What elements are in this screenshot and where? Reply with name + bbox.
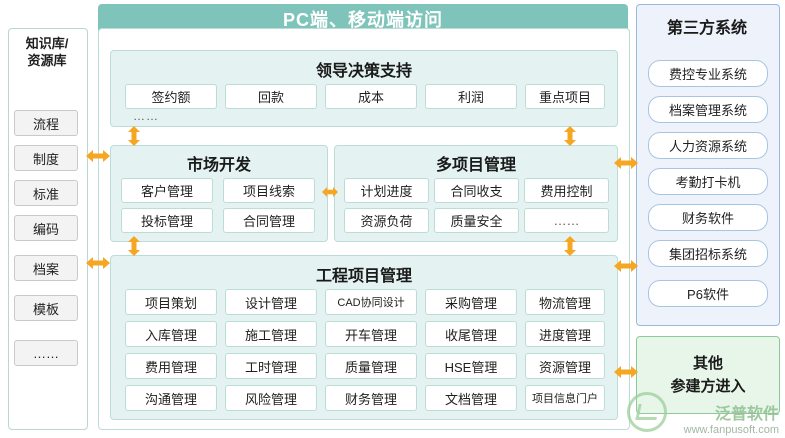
cell-label: 质量管理: [345, 357, 397, 376]
left-item-1[interactable]: 制度: [14, 145, 78, 171]
eng-cell-2[interactable]: CAD协同设计: [325, 289, 417, 315]
cell-label: 工时管理: [245, 357, 297, 376]
multi-cell-4[interactable]: 质量安全: [434, 208, 519, 233]
third-party-item-0[interactable]: 费控专业系统: [648, 60, 768, 87]
knowledge-base-title-line1: 知识库/: [26, 35, 69, 52]
cell-label: 项目信息门户: [532, 390, 598, 406]
eng-cell-6[interactable]: 施工管理: [225, 321, 317, 347]
market-cell-1[interactable]: 项目线索: [223, 178, 315, 203]
cell-label: 费用管理: [145, 357, 197, 376]
cell-label: 开车管理: [345, 325, 397, 344]
eng-cell-12[interactable]: 质量管理: [325, 353, 417, 379]
multi-cell-5[interactable]: ……: [524, 208, 609, 233]
market-development-block: 市场开发 客户管理 项目线索 投标管理 合同管理: [110, 145, 328, 242]
other-panel-line1: 其他: [693, 352, 723, 375]
other-panel-line2: 参建方进入: [670, 375, 745, 398]
multi-project-title: 多项目管理: [335, 151, 617, 175]
market-cell-2[interactable]: 投标管理: [121, 208, 213, 233]
cell-label: 资源负荷: [360, 211, 412, 230]
eng-cell-11[interactable]: 工时管理: [225, 353, 317, 379]
left-item-0[interactable]: 流程: [14, 110, 78, 136]
leadership-cell-3[interactable]: 利润: [425, 84, 517, 109]
eng-cell-16[interactable]: 风险管理: [225, 385, 317, 411]
third-party-item-label: 考勤打卡机: [675, 172, 740, 191]
cell-label: 客户管理: [141, 181, 193, 200]
arrow-main-to-third-party-icon: [614, 155, 638, 171]
third-party-item-3[interactable]: 考勤打卡机: [648, 168, 768, 195]
cell-label: 回款: [258, 87, 284, 106]
knowledge-base-title-line2: 资源库: [26, 52, 69, 69]
leadership-title: 领导决策支持: [111, 57, 617, 81]
eng-cell-17[interactable]: 财务管理: [325, 385, 417, 411]
cell-label: 入库管理: [145, 325, 197, 344]
third-party-item-label: 档案管理系统: [669, 100, 747, 119]
left-item-label: 编码: [33, 219, 59, 238]
arrow-leader-to-market-icon: [126, 126, 142, 146]
leadership-cell-1[interactable]: 回款: [225, 84, 317, 109]
market-cell-3[interactable]: 合同管理: [223, 208, 315, 233]
cell-label: 计划进度: [360, 181, 412, 200]
cell-label: 重点项目: [539, 87, 591, 106]
third-party-item-2[interactable]: 人力资源系统: [648, 132, 768, 159]
eng-cell-5[interactable]: 入库管理: [125, 321, 217, 347]
arrow-left-to-engineering-icon: [86, 255, 110, 271]
cell-label: 费用控制: [540, 181, 592, 200]
leadership-cell-0[interactable]: 签约额: [125, 84, 217, 109]
leadership-cell-4[interactable]: 重点项目: [525, 84, 605, 109]
eng-cell-10[interactable]: 费用管理: [125, 353, 217, 379]
arrow-left-to-market-icon: [86, 148, 110, 164]
watermark-logo-icon: [627, 392, 667, 432]
eng-cell-1[interactable]: 设计管理: [225, 289, 317, 315]
cell-label: 文档管理: [445, 389, 497, 408]
third-party-item-1[interactable]: 档案管理系统: [648, 96, 768, 123]
cell-label: 合同收支: [450, 181, 502, 200]
market-title: 市场开发: [111, 151, 327, 175]
engineering-title: 工程项目管理: [111, 262, 617, 286]
eng-cell-15[interactable]: 沟通管理: [125, 385, 217, 411]
third-party-item-label: 集团招标系统: [669, 244, 747, 263]
left-item-3[interactable]: 编码: [14, 215, 78, 241]
cell-label: 风险管理: [245, 389, 297, 408]
cell-label: 项目策划: [145, 293, 197, 312]
cell-label: 财务管理: [345, 389, 397, 408]
arrow-main-to-third-party-lower-icon: [614, 258, 638, 274]
cell-label: 物流管理: [539, 293, 591, 312]
cell-label: 项目线索: [243, 181, 295, 200]
third-party-item-label: 财务软件: [682, 208, 734, 227]
cell-label: 采购管理: [445, 293, 497, 312]
cell-label: 成本: [358, 87, 384, 106]
eng-cell-19[interactable]: 项目信息门户: [525, 385, 605, 411]
multi-cell-3[interactable]: 资源负荷: [344, 208, 429, 233]
engineering-project-block: 工程项目管理 项目策划 设计管理 CAD协同设计 采购管理 物流管理 入库管理 …: [110, 255, 618, 420]
eng-cell-4[interactable]: 物流管理: [525, 289, 605, 315]
arrow-leader-to-multi-icon: [562, 126, 578, 146]
eng-cell-7[interactable]: 开车管理: [325, 321, 417, 347]
third-party-item-4[interactable]: 财务软件: [648, 204, 768, 231]
cell-label: 合同管理: [243, 211, 295, 230]
multi-cell-1[interactable]: 合同收支: [434, 178, 519, 203]
left-item-label: 档案: [33, 259, 59, 278]
arrow-market-to-engineering-icon: [126, 236, 142, 256]
third-party-title: 第三方系统: [636, 14, 778, 38]
arrow-market-to-multi-icon: [322, 185, 338, 199]
eng-cell-9[interactable]: 进度管理: [525, 321, 605, 347]
third-party-panel: [636, 4, 780, 326]
third-party-item-label: P6软件: [687, 284, 729, 303]
third-party-item-label: 费控专业系统: [669, 64, 747, 83]
cell-label: 利润: [458, 87, 484, 106]
third-party-item-6[interactable]: P6软件: [648, 280, 768, 307]
cell-label: ……: [554, 213, 580, 228]
cell-label: 收尾管理: [445, 325, 497, 344]
eng-cell-14[interactable]: 资源管理: [525, 353, 605, 379]
cell-label: 签约额: [151, 87, 190, 106]
cell-label: 质量安全: [450, 211, 502, 230]
cell-label: CAD协同设计: [337, 294, 404, 310]
multi-project-block: 多项目管理 计划进度 合同收支 费用控制 资源负荷 质量安全 ……: [334, 145, 618, 242]
third-party-item-label: 人力资源系统: [669, 136, 747, 155]
left-item-5[interactable]: 模板: [14, 295, 78, 321]
left-item-2[interactable]: 标准: [14, 180, 78, 206]
diagram-root: PC端、移动端访问 知识库/ 资源库 流程 制度 标准 编码 档案 模板 …… …: [0, 0, 785, 438]
multi-cell-2[interactable]: 费用控制: [524, 178, 609, 203]
multi-cell-0[interactable]: 计划进度: [344, 178, 429, 203]
leadership-cell-2[interactable]: 成本: [325, 84, 417, 109]
left-item-6[interactable]: ……: [14, 340, 78, 366]
cell-label: 沟通管理: [145, 389, 197, 408]
left-item-label: 流程: [33, 114, 59, 133]
cell-label: 进度管理: [539, 325, 591, 344]
eng-cell-3[interactable]: 采购管理: [425, 289, 517, 315]
watermark-url: www.fanpusoft.com: [684, 424, 779, 436]
market-cell-0[interactable]: 客户管理: [121, 178, 213, 203]
cell-label: 资源管理: [539, 357, 591, 376]
cell-label: HSE管理: [445, 357, 498, 376]
cell-label: 投标管理: [141, 211, 193, 230]
knowledge-base-title: 知识库/ 资源库: [10, 30, 84, 74]
left-item-label: 模板: [33, 299, 59, 318]
third-party-item-5[interactable]: 集团招标系统: [648, 240, 768, 267]
leadership-ellipsis: ……: [133, 109, 159, 123]
left-item-label: 标准: [33, 184, 59, 203]
eng-cell-0[interactable]: 项目策划: [125, 289, 217, 315]
cell-label: 施工管理: [245, 325, 297, 344]
arrow-main-to-other-icon: [614, 364, 638, 380]
cell-label: 设计管理: [245, 293, 297, 312]
left-item-label: ……: [33, 346, 59, 361]
left-item-label: 制度: [33, 149, 59, 168]
eng-cell-13[interactable]: HSE管理: [425, 353, 517, 379]
left-item-4[interactable]: 档案: [14, 255, 78, 281]
arrow-multi-to-engineering-icon: [562, 236, 578, 256]
leadership-block: 领导决策支持 签约额 回款 成本 利润 重点项目 ……: [110, 50, 618, 127]
eng-cell-8[interactable]: 收尾管理: [425, 321, 517, 347]
eng-cell-18[interactable]: 文档管理: [425, 385, 517, 411]
